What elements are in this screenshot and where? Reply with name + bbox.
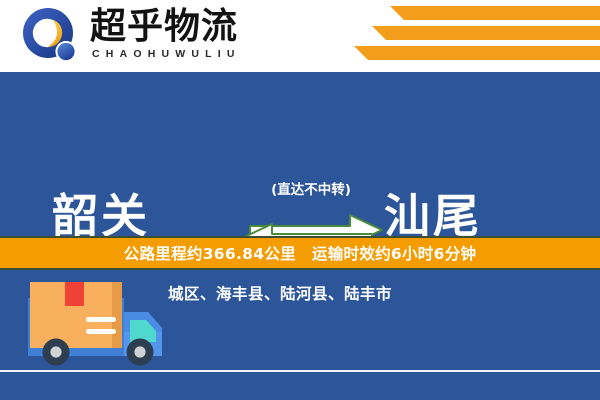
chaohu-circle-logo-icon — [22, 7, 80, 65]
stripe-3 — [368, 46, 600, 60]
duration-label: 运输时效约6小时6分钟 — [312, 242, 476, 264]
route-info-text: 公路里程约366.84公里 运输时效约6小时6分钟 — [0, 238, 600, 268]
logistics-route-banner: 超乎物流 CHAOHUWULIU 韶关 汕尾 (直达不中转) 【往 — [0, 0, 600, 400]
brand-name-cn: 超乎物流 — [90, 7, 241, 47]
header-stripe-decoration — [340, 6, 600, 66]
stripe-2 — [386, 26, 600, 40]
coverage-districts-label: 城区、海丰县、陆河县、陆丰市 — [168, 282, 392, 304]
destination-city: 汕尾 — [384, 190, 482, 242]
brand-text-block: 超乎物流 CHAOHUWULIU — [90, 7, 241, 61]
stripe-1 — [404, 6, 600, 20]
banner-header: 超乎物流 CHAOHUWULIU — [0, 0, 600, 72]
origin-city: 韶关 — [52, 190, 150, 242]
route-info-bar: 公路里程约366.84公里 运输时效约6小时6分钟 — [0, 236, 600, 270]
brand-logo: 超乎物流 CHAOHUWULIU — [22, 7, 322, 67]
delivery-truck-icon — [24, 276, 174, 372]
brand-name-en: CHAOHUWULIU — [90, 48, 241, 61]
direct-service-note: (直达不中转) — [236, 182, 386, 199]
ground-line — [0, 370, 600, 372]
route-panel: 韶关 汕尾 (直达不中转) 【往返运输】 — [0, 72, 600, 235]
distance-label: 公路里程约366.84公里 — [124, 242, 296, 264]
